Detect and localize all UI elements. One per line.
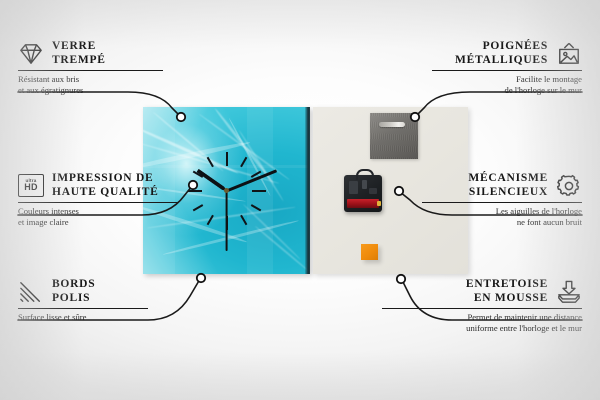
- feature-divider: [18, 202, 178, 203]
- connector-dot-3: [197, 274, 205, 282]
- infographic-stage: VERRE TREMPÉ Résistant aux bris et aux é…: [0, 0, 600, 400]
- feature-divider: [382, 308, 582, 309]
- feature-divider: [18, 308, 148, 309]
- feature-title-line2: POLIS: [52, 292, 95, 306]
- feature-sub-line1: Les aiguilles de l'horloge: [422, 206, 582, 216]
- ultra-hd-icon: ultra HD: [18, 174, 44, 197]
- foam-spacer-icon: [556, 280, 582, 304]
- battery-part: [347, 199, 379, 208]
- clock-mechanism-part: [344, 175, 382, 212]
- feature-title-line2: TREMPÉ: [52, 54, 106, 68]
- feature-title-line1: MÉCANISME: [468, 172, 548, 186]
- feature-divider: [18, 70, 163, 71]
- feature-sub-line1: Résistant aux bris: [18, 74, 163, 84]
- gear-icon: [556, 174, 582, 198]
- mechanism-loop: [356, 169, 374, 180]
- feature-title-line1: IMPRESSION DE: [52, 172, 159, 186]
- feature-verre-trempe[interactable]: VERRE TREMPÉ Résistant aux bris et aux é…: [18, 40, 163, 95]
- feature-title-line2: HAUTE QUALITÉ: [52, 186, 159, 200]
- feature-sub-line1: Permet de maintenir une distance: [382, 312, 582, 322]
- feature-title-line1: BORDS: [52, 278, 95, 292]
- foam-spacer-part: [361, 244, 378, 260]
- feature-divider: [422, 202, 582, 203]
- feature-entretoise-en-mousse[interactable]: ENTRETOISE EN MOUSSE Permet de maintenir…: [382, 278, 582, 333]
- feature-sub-line1: Surface lisse et sûre: [18, 312, 148, 322]
- clock-center-pin: [224, 188, 229, 193]
- feature-title-line2: EN MOUSSE: [466, 292, 548, 306]
- picture-hanger-icon: [556, 42, 582, 66]
- feature-title-line1: VERRE: [52, 40, 106, 54]
- metal-handle-part: [370, 113, 418, 159]
- clock-second-hand: [226, 191, 228, 251]
- feature-sub-line2: et aux égratignures: [18, 85, 163, 95]
- handle-slot: [379, 122, 405, 127]
- feature-sub-line2: uniforme entre l'horloge et le mur: [382, 323, 582, 333]
- feature-title-line2: SILENCIEUX: [468, 186, 548, 200]
- feature-sub-line2: ne font aucun bruit: [422, 217, 582, 227]
- feature-poignees-metalliques[interactable]: POIGNÉES MÉTALLIQUES Facilite le montage…: [432, 40, 582, 95]
- ultra-hd-large-text: HD: [24, 183, 38, 193]
- feature-mecanisme-silencieux[interactable]: MÉCANISME SILENCIEUX Les aiguilles de l'…: [422, 172, 582, 227]
- feature-bords-polis[interactable]: BORDS POLIS Surface lisse et sûre: [18, 278, 148, 323]
- feature-sub-line1: Couleurs intenses: [18, 206, 178, 216]
- feature-impression-haute-qualite[interactable]: ultra HD IMPRESSION DE HAUTE QUALITÉ Cou…: [18, 172, 178, 227]
- feature-sub-line2: et image claire: [18, 217, 178, 227]
- feature-sub-line1: Facilite le montage: [432, 74, 582, 84]
- feature-title-line2: MÉTALLIQUES: [455, 54, 548, 68]
- feature-title-line1: POIGNÉES: [455, 40, 548, 54]
- feature-divider: [432, 70, 582, 71]
- feature-sub-line2: de l'horloge sur le mur: [432, 85, 582, 95]
- diamond-icon: [18, 42, 44, 66]
- polished-edge-icon: [18, 280, 44, 304]
- product-image: [143, 107, 468, 274]
- feature-title-line1: ENTRETOISE: [466, 278, 548, 292]
